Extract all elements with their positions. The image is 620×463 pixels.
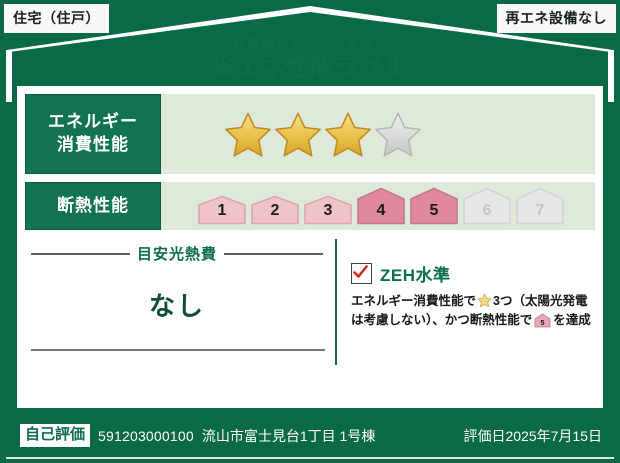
star-icon-filled <box>225 111 271 157</box>
star-icon-filled <box>275 111 321 157</box>
energy-performance-row: エネルギー 消費性能 <box>25 94 595 174</box>
energy-performance-label: 住宅（住戸） 再エネ設備なし 建築物省エネ法に基づく 省エネ性能ラベル エネルギ… <box>0 0 620 463</box>
property-address: 流山市富士見台1丁目 1号棟 <box>202 426 375 446</box>
zeh-desc-part2: は考慮しない）、かつ断熱性能で <box>351 313 532 327</box>
utility-cost-heading: 目安光熱費 <box>25 239 329 264</box>
insulation-label: 断熱性能 <box>57 195 129 218</box>
energy-label-line2: 消費性能 <box>57 134 129 157</box>
utility-cost-heading-text: 目安光熱費 <box>137 243 217 264</box>
utility-cost-value: なし <box>25 286 329 323</box>
insulation-level-badge-icon: 5 <box>534 313 551 328</box>
label-title-block: 建築物省エネ法に基づく 省エネ性能ラベル <box>0 38 620 79</box>
utility-cost-bottom-rule <box>31 349 325 351</box>
label-body-card: エネルギー 消費性能 断熱性能 1234567 目安光熱費 <box>17 86 603 408</box>
star-icon-empty <box>375 111 421 157</box>
insulation-performance-value: 1234567 <box>161 182 595 230</box>
heading-rule-right <box>224 253 323 255</box>
check-icon <box>353 265 368 280</box>
insulation-level-4: 4 <box>356 187 406 225</box>
insulation-level-number: 7 <box>515 202 565 220</box>
insulation-level-number: 4 <box>356 202 406 220</box>
insulation-level-number: 5 <box>409 202 459 220</box>
star-icon-filled <box>325 111 371 157</box>
zeh-title: ZEH水準 <box>380 261 451 286</box>
insulation-badge-text: 5 <box>541 318 545 327</box>
insulation-performance-row: 断熱性能 1234567 <box>25 182 595 230</box>
heading-rule-left <box>31 253 130 255</box>
evaluation-date: 評価日2025年7月15日 <box>463 426 602 446</box>
zeh-desc-star-count: 3つ（太陽光発電 <box>493 294 587 308</box>
star-icon <box>477 293 492 308</box>
zeh-section: ZEH水準 エネルギー消費性能で3つ（太陽光発電 は考慮しない）、かつ断熱性能で… <box>337 239 595 365</box>
label-id: 591203000100 <box>98 428 194 444</box>
title-main: 省エネ性能ラベル <box>0 56 620 79</box>
energy-performance-label-box: エネルギー 消費性能 <box>25 94 161 174</box>
evaluation-type-badge: 自己評価 <box>20 424 90 447</box>
renewable-energy-tag: 再エネ設備なし <box>497 4 617 33</box>
insulation-level-number: 1 <box>197 202 247 220</box>
insulation-level-7: 7 <box>515 187 565 225</box>
zeh-heading: ZEH水準 <box>351 261 593 286</box>
insulation-performance-label-box: 断熱性能 <box>25 182 161 230</box>
footer-bar: 自己評価 591203000100 流山市富士見台1丁目 1号棟 評価日2025… <box>0 408 620 463</box>
insulation-level-scale: 1234567 <box>197 187 565 225</box>
insulation-level-2: 2 <box>250 195 300 225</box>
title-subtitle: 建築物省エネ法に基づく <box>0 38 620 51</box>
insulation-level-number: 2 <box>250 202 300 220</box>
zeh-desc-part1: エネルギー消費性能で <box>351 294 476 308</box>
energy-performance-value <box>161 94 595 174</box>
zeh-desc-part3: を達成 <box>553 313 591 327</box>
zeh-description: エネルギー消費性能で3つ（太陽光発電 は考慮しない）、かつ断熱性能で5を達成 <box>351 292 593 330</box>
insulation-level-1: 1 <box>197 195 247 225</box>
lower-section: 目安光熱費 なし ZEH水準 エネルギー消費性能で3つ（太陽光発電 <box>25 239 595 365</box>
insulation-level-3: 3 <box>303 195 353 225</box>
zeh-checkbox[interactable] <box>351 263 372 284</box>
energy-label-line1: エネルギー <box>48 111 138 134</box>
insulation-level-number: 6 <box>462 202 512 220</box>
building-type-tag: 住宅（住戸） <box>4 4 109 33</box>
footer-rule <box>6 457 614 459</box>
insulation-level-number: 3 <box>303 202 353 220</box>
star-rating <box>225 111 421 157</box>
insulation-level-5: 5 <box>409 187 459 225</box>
utility-cost-section: 目安光熱費 なし <box>25 239 337 365</box>
insulation-level-6: 6 <box>462 187 512 225</box>
